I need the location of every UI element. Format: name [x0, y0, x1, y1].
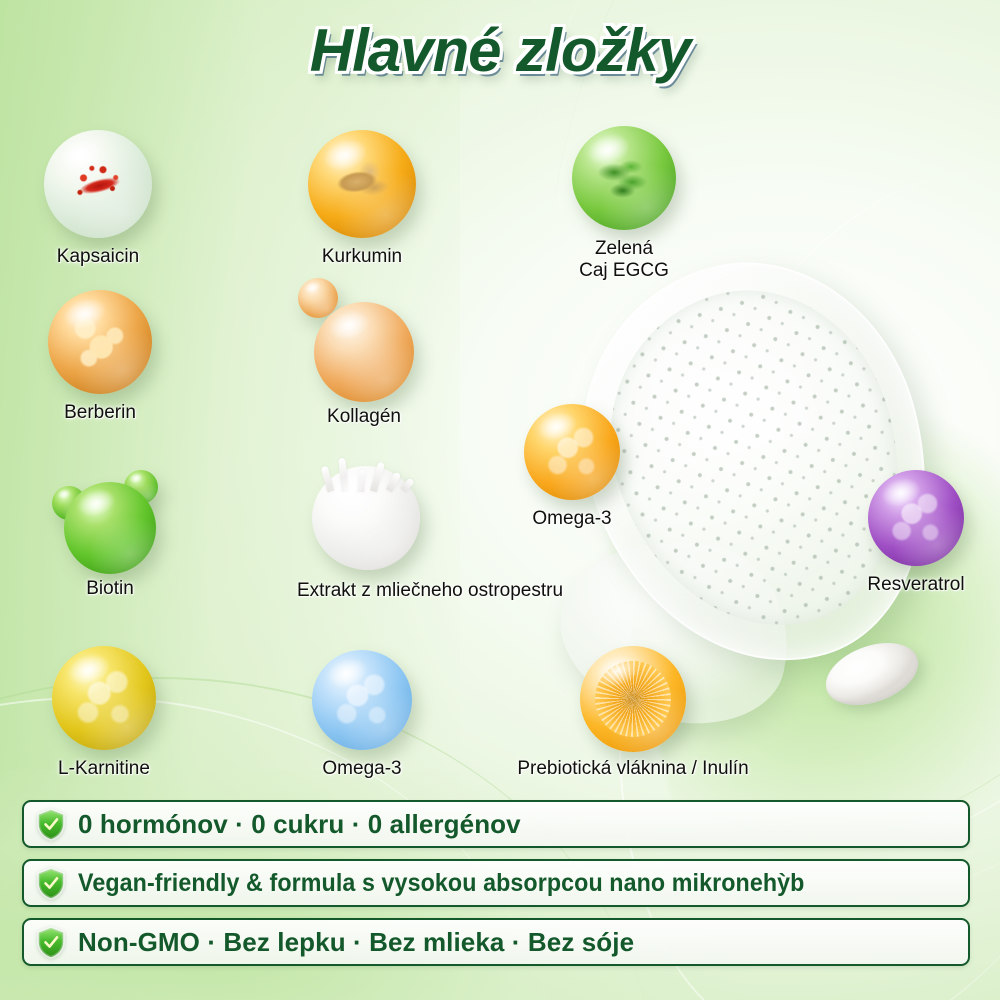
claims-list: 0 hormónov · 0 cukru · 0 allergénov Vega…: [22, 800, 970, 977]
chili-pepper-orb-icon: [44, 130, 152, 238]
chili-pepper-icon: [66, 156, 133, 210]
water-bubbles-icon: [324, 662, 400, 738]
ingredient-omega3-blue: Omega-3: [312, 650, 412, 750]
claim-text: Non-GMO · Bez lepku · Bez mlieka · Bez s…: [78, 927, 634, 958]
ingredient-label-line1: Zelená: [595, 238, 653, 259]
shield-check-icon: [36, 926, 66, 959]
shield-check-icon: [36, 808, 66, 841]
ingredient-inulin: Prebiotická vláknina / Inulín: [580, 646, 686, 752]
ingredient-label: Berberin: [64, 402, 136, 424]
page-title: Hlavné zložky: [0, 16, 1000, 85]
ingredient-resveratrol: Resveratrol: [868, 470, 964, 566]
ingredient-label: Resveratrol: [867, 574, 964, 596]
resveratrol-purple-orb-icon: [868, 470, 964, 566]
l-carnitine-yellow-orb-icon: [52, 646, 156, 750]
ingredient-label: Kurkumin: [322, 246, 402, 268]
inulin-flower-orb-icon: [580, 646, 686, 752]
omega3-amber-droplet-icon: [524, 404, 620, 500]
ingredient-label: Extrakt z mliečneho ostropestru: [297, 580, 563, 602]
ingredient-l-karnitine: L-Karnitine: [52, 646, 156, 750]
claim-row-free-from: 0 hormónov · 0 cukru · 0 allergénov: [22, 800, 970, 848]
milk-splash-crown-icon: [306, 452, 426, 492]
tea-leaves-icon: [589, 143, 660, 214]
turmeric-ginger-orb-icon: [308, 130, 416, 238]
biotin-molecule-orb-icon: [64, 482, 156, 574]
ginger-root-icon: [329, 154, 398, 212]
claim-row-vegan-nano: Vegan-friendly & formula s vysokou absor…: [22, 859, 970, 907]
ingredient-label: Omega-3: [322, 758, 401, 780]
green-tea-leaf-orb-icon: [572, 126, 676, 230]
ingredient-milk-thistle: Extrakt z mliečneho ostropestru: [312, 466, 420, 570]
ingredient-kurkumin: Kurkumin: [308, 130, 416, 238]
ingredient-zelena-caj-egcg: Zelená Caj EGCG: [572, 126, 676, 230]
ingredient-berberin: Berberin: [48, 290, 152, 394]
milk-splash-orb-icon: [312, 466, 420, 570]
ingredient-label: L-Karnitine: [58, 758, 150, 780]
resveratrol-bubbles-icon: [880, 482, 953, 555]
ingredient-omega3-amber: Omega-3: [524, 404, 620, 500]
ingredients-poster: Hlavné zložky Kapsaicin Kurkumin Zelená …: [0, 0, 1000, 1000]
berberine-molecule-orb-icon: [48, 290, 152, 394]
ingredient-label: Kapsaicin: [57, 246, 139, 268]
oil-bubbles-icon: [536, 416, 609, 489]
collagen-droplet-orb-icon: [314, 302, 414, 402]
oil-bubbles-icon: [64, 658, 143, 737]
claim-text: 0 hormónov · 0 cukru · 0 allergénov: [78, 809, 521, 840]
claim-row-non-gmo: Non-GMO · Bez lepku · Bez mlieka · Bez s…: [22, 918, 970, 966]
ingredient-kapsaicin: Kapsaicin: [44, 130, 152, 238]
shield-check-icon: [36, 867, 66, 900]
omega3-blue-orb-icon: [312, 650, 412, 750]
marigold-flower-icon: [595, 661, 671, 737]
molecule-icon: [69, 311, 131, 373]
ingredient-label: Prebiotická vláknina / Inulín: [517, 758, 748, 780]
ingredient-label: Omega-3: [532, 508, 611, 530]
ingredient-label-line2: Caj EGCG: [579, 260, 669, 281]
claim-text: Vegan-friendly & formula s vysokou absor…: [78, 869, 804, 898]
ingredient-label: Biotin: [86, 578, 134, 600]
ingredient-label: Kollagén: [327, 406, 401, 428]
